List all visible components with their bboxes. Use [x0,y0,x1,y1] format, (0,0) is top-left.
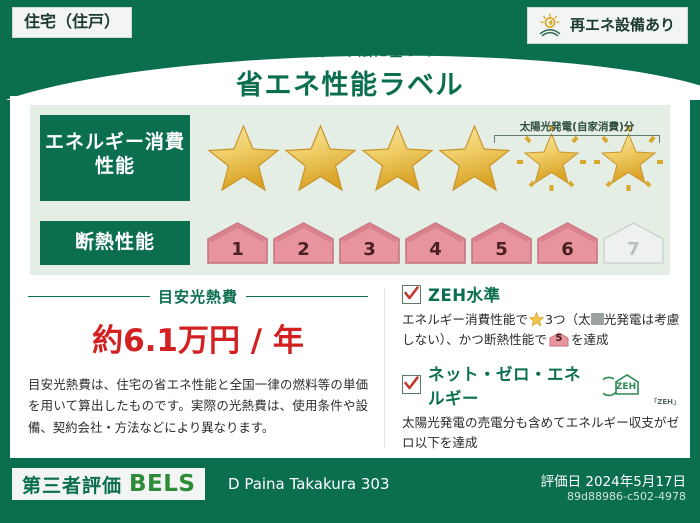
zeh-standard-label: ZEH水準 [428,282,501,306]
insulation-level-house: 3 [338,221,401,265]
renewable-equipment-badge: 再エネ設備あり [527,7,688,44]
bracket-line [494,135,660,143]
lower-section: 目安光熱費 約6.1万円 / 年 目安光熱費は、住宅の省エネ性能と全国一律の燃料… [10,282,690,458]
sun-icon [537,13,563,37]
zeh-standard-item: ZEH水準 エネルギー消費性能で3つ（太光発電は考慮しない）、かつ断熱性能で5を… [402,282,680,351]
title-block: 建築物省エネ法に基づく 省エネ性能ラベル [0,40,700,100]
house-number: 1 [206,239,269,260]
net-zero-energy-label: ネット・ゼロ・エネルギー [428,361,596,409]
house-number: 2 [272,239,335,260]
solar-self-consumption-bracket: 太陽光発電(自家消費)分 [494,119,660,143]
insulation-performance-label: 断熱性能 [40,221,190,265]
housing-type-badge: 住宅（住戸） [12,7,132,38]
bels-jp-label: 第三者評価 [22,471,122,498]
insulation-level-house: 1 [206,221,269,265]
insulation-performance-row: 断熱性能 1 2 3 [40,221,665,265]
net-zero-energy-title: ネット・ゼロ・エネルギー ZEH 「ZEH」 [402,361,680,409]
check-icon [402,375,421,394]
cost-column: 目安光熱費 約6.1万円 / 年 目安光熱費は、住宅の省エネ性能と全国一律の燃料… [28,282,368,438]
title-subtitle: 建築物省エネ法に基づく [0,40,700,61]
evaluation-date: 評価日 2024年5月17日 [541,470,686,490]
cost-value: 約6.1万円 / 年 [28,315,368,360]
star-icon-filled [206,122,281,194]
zeh-standard-title: ZEH水準 [402,282,680,306]
title-main: 省エネ性能ラベル [0,63,700,100]
inline-house-badge: 5 [549,332,569,347]
zeh-logo-caption: 「ZEH」 [650,397,680,407]
heading-rule-left [28,296,150,297]
evaluation-id: 89d88986-c502-4978 [567,490,686,503]
star-icon-filled [360,122,435,194]
performance-area: エネルギー消費性能 [30,105,670,275]
cost-heading-text: 目安光熱費 [158,286,238,307]
house-number: 7 [602,239,665,260]
house-number: 3 [338,239,401,260]
body: エネルギー消費性能 [10,96,690,458]
insulation-level-scale: 1 2 3 4 5 [206,221,665,265]
solar-bracket-label: 太陽光発電(自家消費)分 [494,119,660,134]
cost-heading: 目安光熱費 [28,286,368,307]
insulation-level-house: 4 [404,221,467,265]
energy-performance-label: 住宅（住戸） 再エネ設備あり [0,0,700,523]
renewable-equipment-text: 再エネ設備あり [570,17,675,34]
building-name: D Paina Takakura 303 [228,475,390,493]
desc-part-2: 3つ（太 [545,312,591,327]
column-divider [384,288,385,448]
inline-house-number: 5 [549,331,569,347]
heading-rule-right [246,296,368,297]
criteria-column: ZEH水準 エネルギー消費性能で3つ（太光発電は考慮しない）、かつ断熱性能で5を… [402,282,680,457]
footer: 第三者評価 BELS D Paina Takakura 303 評価日 2024… [0,458,700,523]
energy-performance-row: エネルギー消費性能 [40,115,666,201]
insulation-level-house-inactive: 7 [602,221,665,265]
bels-certification-box: 第三者評価 BELS [12,468,205,500]
zeh-standard-description: エネルギー消費性能で3つ（太光発電は考慮しない）、かつ断熱性能で5を達成 [402,310,680,351]
bels-en-label: BELS [129,471,195,497]
net-zero-energy-item: ネット・ゼロ・エネルギー ZEH 「ZEH」 太陽光発電の売電分も含めてエネルギ… [402,361,680,454]
check-icon [402,285,421,304]
house-number: 4 [404,239,467,260]
house-number: 6 [536,239,599,260]
header: 住宅（住戸） 再エネ設備あり [0,0,700,100]
cost-note: 目安光熱費は、住宅の省エネ性能と全国一律の燃料等の単価を用いて算出したものです。… [28,374,368,438]
desc-part-4: を達成 [571,332,609,347]
house-number: 5 [470,239,533,260]
net-zero-energy-description: 太陽光発電の売電分も含めてエネルギー収支がゼロ以下を達成 [402,413,680,454]
energy-performance-label: エネルギー消費性能 [40,115,190,201]
insulation-level-house: 2 [272,221,335,265]
desc-part-1: エネルギー消費性能で [402,312,528,327]
svg-text:ZEH: ZEH [616,382,636,392]
housing-type-text: 住宅（住戸） [24,12,120,31]
insulation-level-house: 5 [470,221,533,265]
insulation-level-house: 6 [536,221,599,265]
zeh-house-logo-icon: ZEH [603,373,643,397]
blurred-character [591,313,604,325]
star-icon-filled [283,122,358,194]
star-icon [529,312,544,326]
